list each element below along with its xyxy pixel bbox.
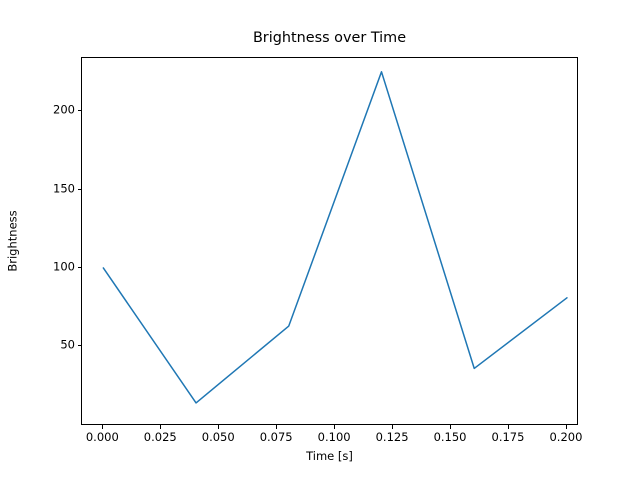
x-tick-mark — [276, 425, 277, 429]
x-tick-mark — [508, 425, 509, 429]
y-tick-label: 200 — [53, 104, 75, 117]
line-series-plot — [82, 58, 579, 426]
x-tick-label: 0.175 — [492, 431, 525, 444]
x-tick-label: 0.050 — [202, 431, 235, 444]
x-tick-label: 0.075 — [260, 431, 293, 444]
x-tick-label: 0.025 — [144, 431, 177, 444]
x-tick-label: 0.000 — [86, 431, 119, 444]
y-tick-mark — [78, 267, 82, 268]
chart-title: Brightness over Time — [81, 30, 578, 46]
x-tick-label: 0.125 — [376, 431, 409, 444]
y-tick-label: 50 — [60, 339, 75, 352]
x-tick-mark — [160, 425, 161, 429]
x-tick-mark — [218, 425, 219, 429]
plot-axes-frame — [81, 57, 578, 425]
y-tick-label: 150 — [53, 182, 75, 195]
x-tick-mark — [102, 425, 103, 429]
x-axis-label: Time [s] — [81, 450, 578, 463]
y-tick-label: 100 — [53, 260, 75, 273]
series-brightness-line — [103, 72, 567, 403]
x-tick-label: 0.150 — [434, 431, 467, 444]
x-tick-mark — [392, 425, 393, 429]
x-tick-mark — [334, 425, 335, 429]
x-tick-mark — [450, 425, 451, 429]
y-tick-mark — [78, 345, 82, 346]
y-axis-label: Brightness — [7, 210, 20, 271]
figure-canvas: Brightness over Time 0.0000.0250.0500.07… — [0, 0, 640, 480]
x-tick-mark — [566, 425, 567, 429]
y-tick-mark — [78, 189, 82, 190]
y-tick-mark — [78, 110, 82, 111]
x-tick-label: 0.200 — [549, 431, 582, 444]
x-tick-label: 0.100 — [318, 431, 351, 444]
